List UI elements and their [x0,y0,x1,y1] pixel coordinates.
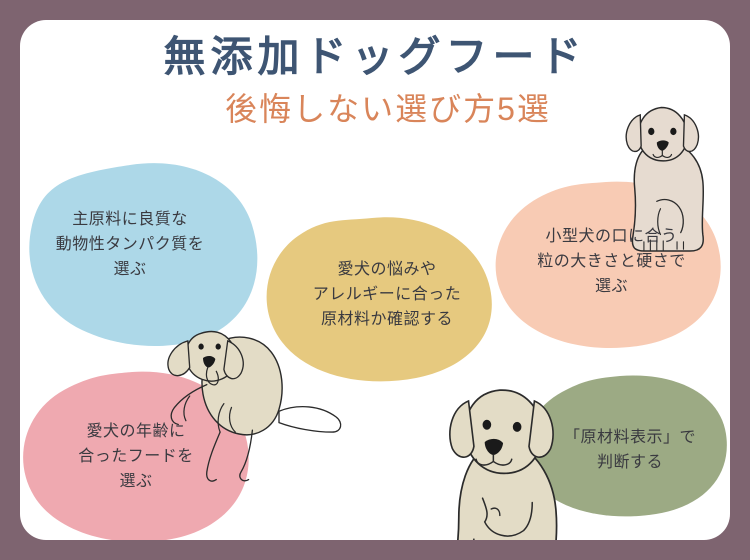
page-subtitle: 後悔しない選び方5選 [20,92,730,127]
page-title: 無添加ドッグフード [20,34,730,80]
point-label-5: 「原材料表示」で 判断する [540,426,720,476]
point-label-1: 主原料に良質な 動物性タンパク質を 選ぶ [25,208,235,282]
point-label-3: 小型犬の口に合う 粒の大きさと硬さで 選ぶ [504,225,719,299]
infographic-poster: 無添加ドッグフード 後悔しない選び方5選 主原料に良質な 動物性タンパク質を 選… [0,0,750,560]
poster-card: 無添加ドッグフード 後悔しない選び方5選 主原料に良質な 動物性タンパク質を 選… [20,20,730,540]
point-label-2: 愛犬の悩みや アレルギーに合った 原材料か確認する [282,258,492,332]
point-label-4: 愛犬の年齢に 合ったフードを 選ぶ [38,420,234,494]
poster-heading-block: 無添加ドッグフード 後悔しない選び方5選 [20,34,730,127]
